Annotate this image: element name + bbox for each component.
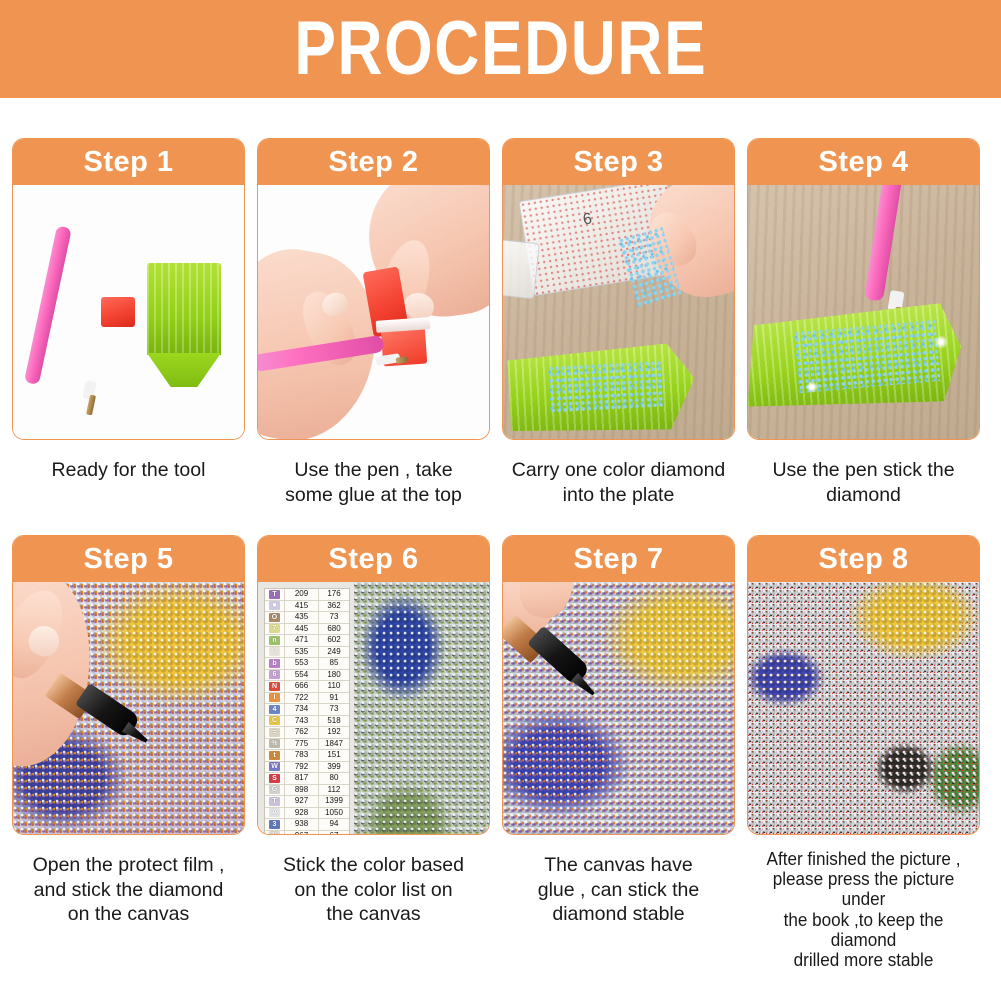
color-count-cell: 1399 — [319, 796, 349, 807]
step-3-header-label: Step 3 — [573, 148, 663, 177]
step-card-2[interactable]: Step 2 — [257, 138, 490, 507]
step-4-header-label: Step 4 — [818, 148, 908, 177]
diamonds-in-tray — [548, 360, 666, 414]
color-list-row: C743518 — [265, 716, 349, 728]
step-6-card: Step 6 T209176■415362O435737445680n47160… — [257, 535, 490, 835]
color-symbol-cell: T — [265, 589, 285, 600]
step-8-image — [748, 582, 979, 834]
step-2-image — [258, 185, 489, 439]
color-code-cell: 817 — [285, 773, 319, 784]
step-5-header-label: Step 5 — [83, 545, 173, 574]
color-symbol-cell: b — [265, 658, 285, 669]
color-list-row: ■415362 — [265, 601, 349, 613]
step-7-header-label: Step 7 — [573, 545, 663, 574]
step-3-caption: Carry one color diamond into the plate — [502, 458, 735, 507]
steps-row-1: Step 1 Ready for t — [0, 138, 1001, 507]
color-list-row: U535249 — [265, 647, 349, 659]
color-swatch-icon: G — [269, 785, 280, 794]
color-code-cell: 792 — [285, 762, 319, 773]
color-code-cell: 927 — [285, 796, 319, 807]
color-list-row: t783151 — [265, 750, 349, 762]
color-count-cell: 73 — [319, 612, 349, 623]
glue-square-icon — [101, 297, 135, 327]
color-symbol-cell: S — [265, 773, 285, 784]
step-4-image — [748, 185, 979, 439]
color-list-row: W792399 — [265, 762, 349, 774]
color-symbol-cell: I — [265, 693, 285, 704]
diamond-canvas-mosaic — [354, 582, 489, 834]
page-header-banner: PROCEDURE — [0, 0, 1001, 98]
color-count-cell: 80 — [319, 773, 349, 784]
color-swatch-icon: O — [269, 613, 280, 622]
color-count-cell: 518 — [319, 716, 349, 727]
step-4-header: Step 4 — [748, 139, 979, 185]
color-swatch-icon: t — [269, 751, 280, 760]
color-swatch-icon: 6 — [269, 670, 280, 679]
step-card-3[interactable]: Step 3 6 — [502, 138, 735, 507]
step-7-caption: The canvas have glue , can stick the dia… — [502, 853, 735, 927]
step-7-image — [503, 582, 734, 834]
color-swatch-icon: n — [269, 636, 280, 645]
color-list-row: G898112 — [265, 785, 349, 797]
color-symbol-cell: C — [265, 716, 285, 727]
color-code-cell: 762 — [285, 727, 319, 738]
color-code-cell: 209 — [285, 589, 319, 600]
color-symbol-cell: % — [265, 739, 285, 750]
step-card-1[interactable]: Step 1 Ready for t — [12, 138, 245, 507]
color-count-cell: 249 — [319, 647, 349, 658]
color-list-row: =762192 — [265, 727, 349, 739]
diamond-canvas-mosaic — [748, 582, 979, 834]
color-list-chart: T209176■415362O435737445680n471602U53524… — [264, 588, 350, 834]
secondary-bag-icon — [503, 239, 540, 299]
step-6-image: T209176■415362O435737445680n471602U53524… — [258, 582, 489, 834]
color-count-cell: 192 — [319, 727, 349, 738]
color-code-cell: 938 — [285, 819, 319, 830]
color-code-cell: 743 — [285, 716, 319, 727]
color-count-cell: 94 — [319, 819, 349, 830]
color-list-row: b55385 — [265, 658, 349, 670]
color-list-row: T209176 — [265, 589, 349, 601]
color-list-row: I72291 — [265, 693, 349, 705]
color-count-cell: 91 — [319, 693, 349, 704]
color-count-cell: 1847 — [319, 739, 349, 750]
step-3-header: Step 3 — [503, 139, 734, 185]
color-count-cell: 362 — [319, 601, 349, 612]
step-6-header-label: Step 6 — [328, 545, 418, 574]
step-1-caption: Ready for the tool — [12, 458, 245, 483]
step-5-card: Step 5 — [12, 535, 245, 835]
step-card-4[interactable]: Step 4 — [747, 138, 980, 507]
color-list-row: O43573 — [265, 612, 349, 624]
color-list-row: 7445680 — [265, 624, 349, 636]
color-list-row: 6554180 — [265, 670, 349, 682]
color-code-cell: 535 — [285, 647, 319, 658]
color-list-and-canvas-photo: T209176■415362O435737445680n471602U53524… — [258, 582, 489, 834]
color-symbol-cell: T — [265, 796, 285, 807]
color-swatch-icon: T — [269, 797, 280, 806]
color-swatch-icon: W — [269, 762, 280, 771]
color-list-row: %96767 — [265, 831, 349, 835]
color-symbol-cell: O — [265, 612, 285, 623]
color-swatch-icon: U — [269, 647, 280, 656]
color-count-cell: 112 — [319, 785, 349, 796]
color-swatch-icon: % — [269, 739, 280, 748]
color-count-cell: 1050 — [319, 808, 349, 819]
step-1-header-label: Step 1 — [83, 148, 173, 177]
color-swatch-icon: 3 — [269, 820, 280, 829]
color-symbol-cell: 6 — [265, 670, 285, 681]
color-list-row: N666110 — [265, 681, 349, 693]
step-2-header-label: Step 2 — [328, 148, 418, 177]
page-title: PROCEDURE — [294, 11, 707, 87]
step-4-caption: Use the pen stick the diamond — [747, 458, 980, 507]
color-symbol-cell: 3 — [265, 819, 285, 830]
color-list-row: T9271399 — [265, 796, 349, 808]
step-5-image — [13, 582, 244, 834]
step-card-5[interactable]: Step 5 Open the protect film , and stick… — [12, 535, 245, 970]
color-list-row: 393894 — [265, 819, 349, 831]
color-symbol-cell: W — [265, 762, 285, 773]
color-symbol-cell: A — [265, 808, 285, 819]
step-card-6[interactable]: Step 6 T209176■415362O435737445680n47160… — [257, 535, 490, 970]
color-count-cell: 399 — [319, 762, 349, 773]
step-1-card: Step 1 — [12, 138, 245, 440]
color-swatch-icon: b — [269, 659, 280, 668]
step-card-7[interactable]: Step 7 The canvas have glue , can stick … — [502, 535, 735, 970]
color-code-cell: 435 — [285, 612, 319, 623]
tools-photo — [13, 185, 244, 439]
pen-glue-hands-photo — [258, 185, 489, 439]
color-symbol-cell: U — [265, 647, 285, 658]
color-code-cell: 775 — [285, 739, 319, 750]
step-card-8[interactable]: Step 8 After finished the picture , plea… — [747, 535, 980, 970]
color-swatch-icon: ■ — [269, 601, 280, 610]
step-2-header: Step 2 — [258, 139, 489, 185]
step-7-header: Step 7 — [503, 536, 734, 582]
color-symbol-cell: G — [265, 785, 285, 796]
sparkle-icon — [806, 381, 818, 393]
step-5-caption: Open the protect film , and stick the di… — [12, 853, 245, 927]
color-swatch-icon: = — [269, 728, 280, 737]
color-swatch-icon: % — [269, 831, 280, 834]
color-count-cell: 680 — [319, 624, 349, 635]
color-swatch-icon: 7 — [269, 624, 280, 633]
color-count-cell: 602 — [319, 635, 349, 646]
color-swatch-icon: N — [269, 682, 280, 691]
pen-pick-diamond-photo — [748, 185, 979, 439]
color-code-cell: 783 — [285, 750, 319, 761]
color-count-cell: 110 — [319, 681, 349, 692]
pen-placing-diamond-photo — [503, 582, 734, 834]
step-1-header: Step 1 — [13, 139, 244, 185]
step-3-image: 6 — [503, 185, 734, 439]
color-code-cell: 928 — [285, 808, 319, 819]
green-tray-icon — [147, 263, 221, 355]
color-count-cell: 85 — [319, 658, 349, 669]
step-3-card: Step 3 6 — [502, 138, 735, 440]
color-symbol-cell: N — [265, 681, 285, 692]
finished-painting-photo — [748, 582, 979, 834]
color-swatch-icon: S — [269, 774, 280, 783]
color-code-cell: 967 — [285, 831, 319, 835]
color-symbol-cell: t — [265, 750, 285, 761]
color-code-cell: 734 — [285, 704, 319, 715]
color-code-cell: 553 — [285, 658, 319, 669]
step-2-card: Step 2 — [257, 138, 490, 440]
color-code-cell: 898 — [285, 785, 319, 796]
color-list-row: A9281050 — [265, 808, 349, 820]
step-8-caption: After finished the picture , please pres… — [753, 849, 974, 970]
step-1-image — [13, 185, 244, 439]
color-list-row: 473473 — [265, 704, 349, 716]
color-symbol-cell: 7 — [265, 624, 285, 635]
step-6-caption: Stick the color based on the color list … — [257, 853, 490, 927]
color-symbol-cell: n — [265, 635, 285, 646]
step-6-header: Step 6 — [258, 536, 489, 582]
color-code-cell: 722 — [285, 693, 319, 704]
step-7-card: Step 7 — [502, 535, 735, 835]
color-count-cell: 73 — [319, 704, 349, 715]
color-count-cell: 180 — [319, 670, 349, 681]
steps-row-2: Step 5 Open the protect film , and stick… — [0, 535, 1001, 970]
sparkle-icon — [934, 335, 948, 349]
color-code-cell: 554 — [285, 670, 319, 681]
color-code-cell: 445 — [285, 624, 319, 635]
color-swatch-icon: A — [269, 808, 280, 817]
color-code-cell: 666 — [285, 681, 319, 692]
color-list-row: n471602 — [265, 635, 349, 647]
color-symbol-cell: ■ — [265, 601, 285, 612]
canvas-with-pen-photo — [13, 582, 244, 834]
color-symbol-cell: 4 — [265, 704, 285, 715]
pour-diamonds-photo: 6 — [503, 185, 734, 439]
color-list-row: %7751847 — [265, 739, 349, 751]
step-4-card: Step 4 — [747, 138, 980, 440]
step-5-header: Step 5 — [13, 536, 244, 582]
color-count-cell: 176 — [319, 589, 349, 600]
color-symbol-cell: = — [265, 727, 285, 738]
color-code-cell: 471 — [285, 635, 319, 646]
color-count-cell: 67 — [319, 831, 349, 835]
step-8-header: Step 8 — [748, 536, 979, 582]
color-swatch-icon: T — [269, 590, 280, 599]
color-count-cell: 151 — [319, 750, 349, 761]
color-code-cell: 415 — [285, 601, 319, 612]
color-swatch-icon: C — [269, 716, 280, 725]
step-8-card: Step 8 — [747, 535, 980, 835]
color-swatch-icon: 4 — [269, 705, 280, 714]
step-8-header-label: Step 8 — [818, 545, 908, 574]
color-swatch-icon: I — [269, 693, 280, 702]
color-symbol-cell: % — [265, 831, 285, 835]
color-list-row: S81780 — [265, 773, 349, 785]
step-2-caption: Use the pen , take some glue at the top — [257, 458, 490, 507]
